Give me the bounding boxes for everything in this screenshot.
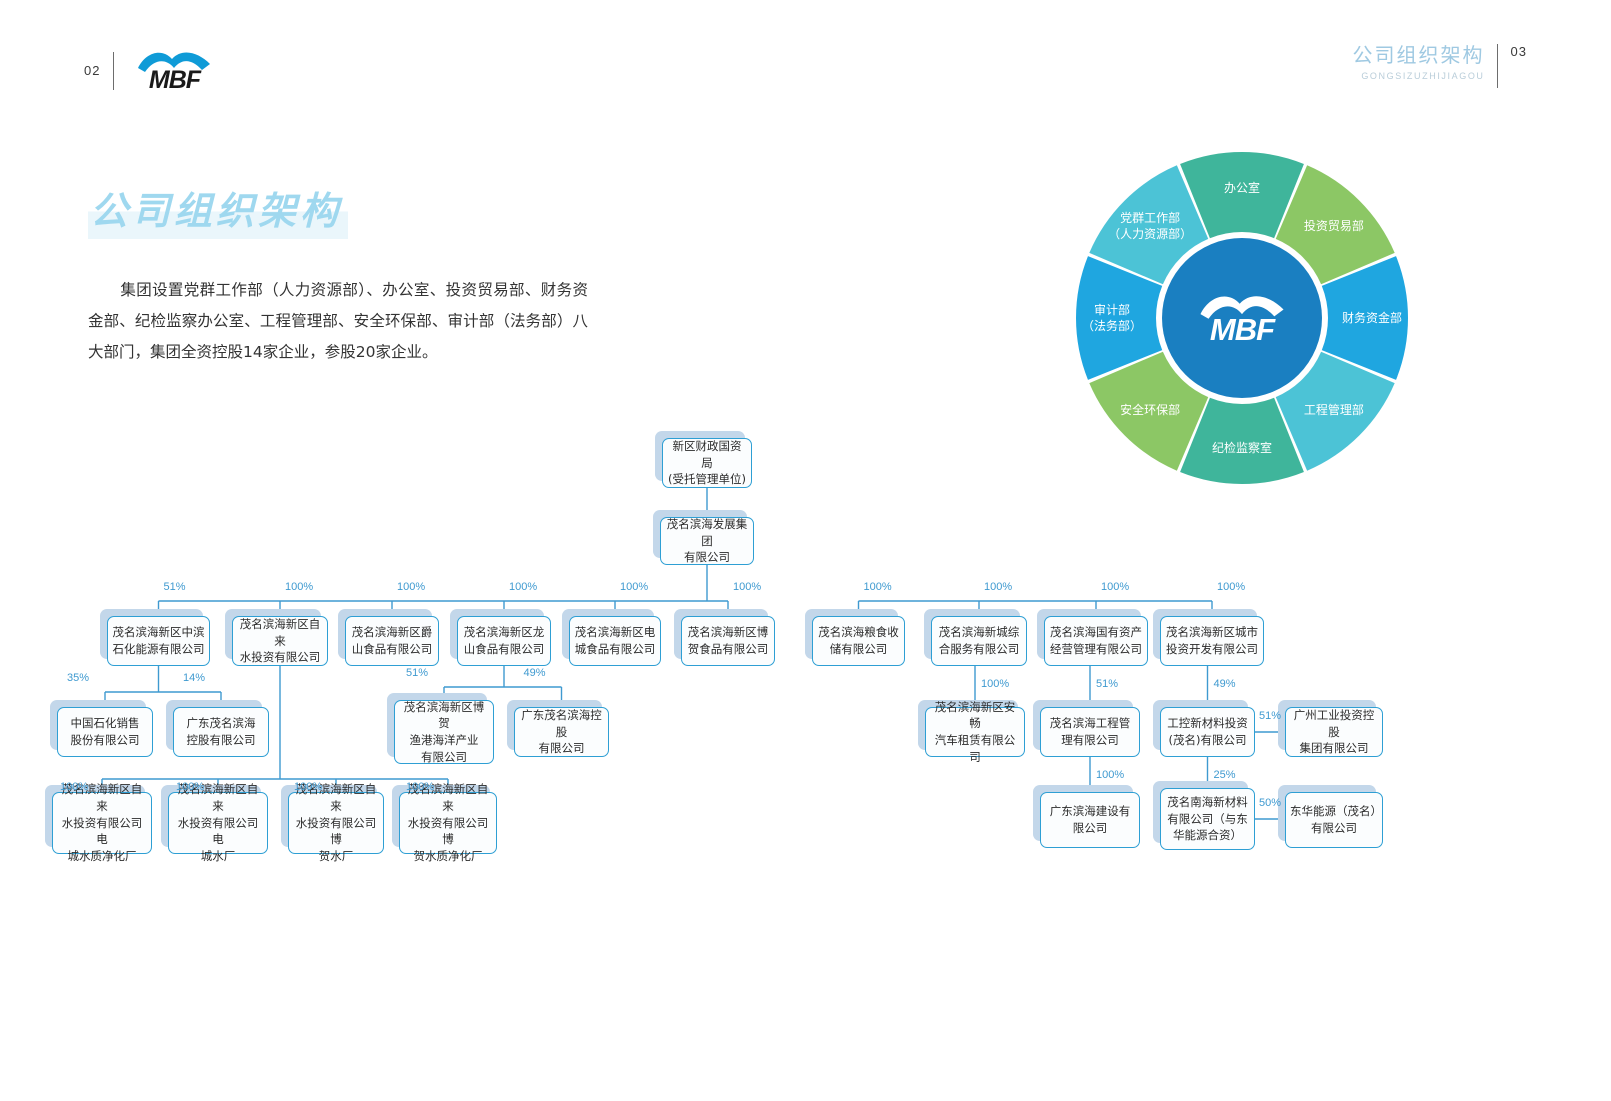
org-node-b2[interactable]: 广东茂名滨海控股有限公司 — [173, 707, 269, 757]
org-node-c4[interactable]: 茂名滨海新区自来水投资有限公司博贺水质净化厂 — [399, 792, 497, 854]
org-node-label: 工控新材料投资(茂名)有限公司 — [1167, 715, 1248, 748]
org-node-b7[interactable]: 工控新材料投资(茂名)有限公司 — [1160, 707, 1255, 757]
percent-c3: 100% — [294, 781, 322, 793]
percent-a5: 100% — [620, 581, 648, 593]
percent-b7: 49% — [1214, 678, 1236, 690]
org-node-label: 茂名滨海新区自来水投资有限公司 — [237, 616, 323, 666]
org-node-a10[interactable]: 茂名滨海新区城市投资开发有限公司 — [1160, 616, 1264, 666]
org-node-c1[interactable]: 茂名滨海新区自来水投资有限公司电城水质净化厂 — [52, 792, 152, 854]
percent-b3: 51% — [406, 667, 428, 679]
org-node-label: 茂名滨海新区自来水投资有限公司电城水厂 — [173, 781, 263, 864]
percent-c1: 100% — [60, 781, 88, 793]
percent-a9: 100% — [1101, 581, 1129, 593]
org-node-label: 茂名滨海新区中滨石化能源有限公司 — [113, 624, 205, 657]
org-node-a3[interactable]: 茂名滨海新区爵山食品有限公司 — [345, 616, 439, 666]
org-node-a6[interactable]: 茂名滨海新区博贺食品有限公司 — [681, 616, 775, 666]
org-node-label: 茂名滨海新区自来水投资有限公司博贺水厂 — [293, 781, 379, 864]
org-node-label: 茂名滨海新区安畅汽车租赁有限公司 — [930, 699, 1020, 766]
percent-a1: 51% — [164, 581, 186, 593]
percent-c2: 100% — [176, 781, 204, 793]
org-node-a1[interactable]: 茂名滨海新区中滨石化能源有限公司 — [107, 616, 210, 666]
org-node-label: 广东茂名滨海控股有限公司 — [519, 707, 604, 757]
org-node-a8[interactable]: 茂名滨海新城综合服务有限公司 — [931, 616, 1027, 666]
org-node-label: 广东滨海建设有限公司 — [1050, 803, 1131, 836]
org-node-label: 茂名滨海新区城市投资开发有限公司 — [1166, 624, 1258, 657]
percent-c5: 100% — [1096, 769, 1124, 781]
org-node-a5[interactable]: 茂名滨海新区电城食品有限公司 — [569, 616, 661, 666]
org-node-b4[interactable]: 广东茂名滨海控股有限公司 — [514, 707, 609, 757]
org-node-a9[interactable]: 茂名滨海国有资产经营管理有限公司 — [1044, 616, 1148, 666]
org-node-label: 东华能源（茂名）有限公司 — [1290, 803, 1378, 836]
org-node-n0[interactable]: 新区财政国资局(受托管理单位) — [662, 438, 752, 488]
org-node-label: 广州工业投资控股集团有限公司 — [1290, 707, 1378, 757]
percent-b5: 100% — [981, 678, 1009, 690]
page-root: 02 MBF 公司组织架构 GONGSIZUZHIJIAGOU 03 公司组织架… — [0, 0, 1611, 1101]
org-node-label: 茂名滨海新区爵山食品有限公司 — [352, 624, 433, 657]
org-chart: 新区财政国资局(受托管理单位)茂名滨海发展集团有限公司茂名滨海新区中滨石化能源有… — [0, 0, 1611, 1101]
org-node-label: 茂名滨海新区龙山食品有限公司 — [464, 624, 545, 657]
percent-a2: 100% — [285, 581, 313, 593]
org-node-label: 茂名滨海发展集团有限公司 — [665, 516, 749, 566]
org-node-label: 茂名滨海新城综合服务有限公司 — [939, 624, 1020, 657]
percent-b4: 49% — [524, 667, 546, 679]
org-node-label: 茂名滨海国有资产经营管理有限公司 — [1050, 624, 1142, 657]
org-node-label: 茂名滨海新区电城食品有限公司 — [575, 624, 656, 657]
org-node-a4[interactable]: 茂名滨海新区龙山食品有限公司 — [457, 616, 551, 666]
org-node-a7[interactable]: 茂名滨海粮食收储有限公司 — [812, 616, 905, 666]
percent-b2: 14% — [183, 672, 205, 684]
percent-a7: 100% — [864, 581, 892, 593]
org-node-c7[interactable]: 东华能源（茂名）有限公司 — [1285, 792, 1383, 848]
org-node-b8[interactable]: 广州工业投资控股集团有限公司 — [1285, 707, 1383, 757]
org-node-b3[interactable]: 茂名滨海新区博贺渔港海洋产业有限公司 — [394, 700, 494, 764]
percent-b6: 51% — [1096, 678, 1118, 690]
org-node-label: 茂名滨海新区博贺食品有限公司 — [688, 624, 769, 657]
org-node-label: 新区财政国资局(受托管理单位) — [667, 438, 747, 488]
org-node-c3[interactable]: 茂名滨海新区自来水投资有限公司博贺水厂 — [288, 792, 384, 854]
org-node-label: 广东茂名滨海控股有限公司 — [187, 715, 256, 748]
org-node-c2[interactable]: 茂名滨海新区自来水投资有限公司电城水厂 — [168, 792, 268, 854]
org-node-label: 茂名滨海新区自来水投资有限公司电城水质净化厂 — [57, 781, 147, 864]
org-node-c6[interactable]: 茂名南海新材料有限公司（与东华能源合资） — [1160, 788, 1255, 850]
org-node-label: 茂名南海新材料有限公司（与东华能源合资） — [1167, 794, 1248, 844]
org-node-n1[interactable]: 茂名滨海发展集团有限公司 — [660, 517, 754, 565]
percent-a10: 100% — [1217, 581, 1245, 593]
percent-c7: 50% — [1259, 797, 1281, 809]
percent-a8: 100% — [984, 581, 1012, 593]
org-node-label: 中国石化销售股份有限公司 — [71, 715, 140, 748]
org-node-label: 茂名滨海工程管理有限公司 — [1050, 715, 1131, 748]
org-node-label: 茂名滨海新区博贺渔港海洋产业有限公司 — [399, 699, 489, 766]
org-node-b1[interactable]: 中国石化销售股份有限公司 — [57, 707, 153, 757]
org-chart-connectors — [0, 0, 1611, 1101]
percent-b8: 51% — [1259, 710, 1281, 722]
percent-c6: 25% — [1214, 769, 1236, 781]
percent-a6: 100% — [733, 581, 761, 593]
org-node-a2[interactable]: 茂名滨海新区自来水投资有限公司 — [232, 616, 328, 666]
percent-a4: 100% — [509, 581, 537, 593]
org-node-label: 茂名滨海粮食收储有限公司 — [818, 624, 899, 657]
percent-c4: 100% — [406, 781, 434, 793]
org-node-b5[interactable]: 茂名滨海新区安畅汽车租赁有限公司 — [925, 707, 1025, 757]
percent-a3: 100% — [397, 581, 425, 593]
percent-b1: 35% — [67, 672, 89, 684]
org-node-label: 茂名滨海新区自来水投资有限公司博贺水质净化厂 — [404, 781, 492, 864]
org-node-c5[interactable]: 广东滨海建设有限公司 — [1040, 792, 1140, 848]
org-node-b6[interactable]: 茂名滨海工程管理有限公司 — [1040, 707, 1140, 757]
